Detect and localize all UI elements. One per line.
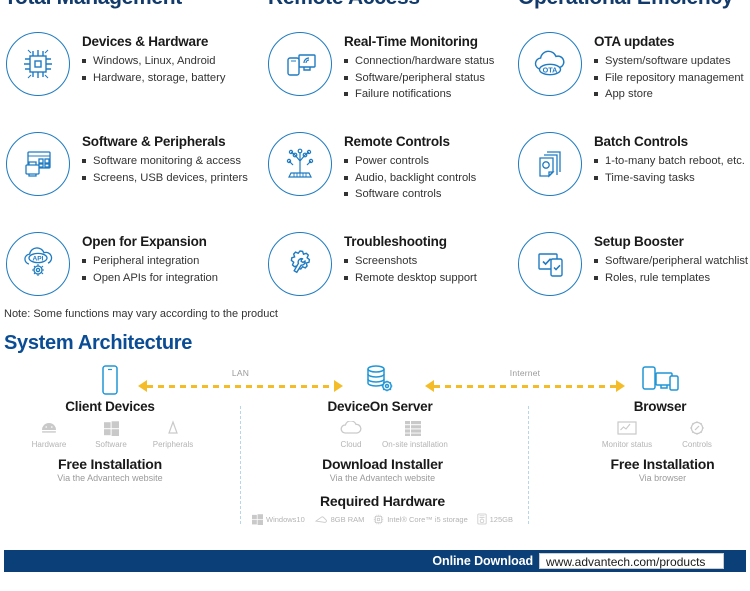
- required-hardware-list: Windows10 8GB RAM: [250, 513, 515, 525]
- feature-bullet: App store: [594, 86, 744, 103]
- feature-row: Devices & Hardware Windows, Linux, Andro…: [0, 30, 750, 130]
- windows-icon: [252, 514, 263, 525]
- cloud-icon: [320, 418, 382, 438]
- feature-bullet: System/software updates: [594, 53, 744, 70]
- ota-cloud-icon: OTA: [518, 32, 582, 96]
- feature-title: Software & Peripherals: [82, 134, 248, 149]
- batch-controls-icon: [518, 132, 582, 196]
- api-cloud-icon: API: [6, 232, 70, 296]
- microchip-icon: [6, 32, 70, 96]
- svg-text:OTA: OTA: [543, 65, 558, 74]
- software-peripherals-icon: [6, 132, 70, 196]
- feature-title: OTA updates: [594, 34, 744, 49]
- peripheral-icon: [142, 418, 204, 438]
- feature-title: Real-Time Monitoring: [344, 34, 494, 49]
- feature-bullet: Screens, USB devices, printers: [82, 170, 248, 187]
- feature-card-remote-controls: Remote Controls Power controls Audio, ba…: [250, 130, 500, 230]
- arch-link-label: Internet: [425, 368, 625, 378]
- feature-title: Setup Booster: [594, 234, 748, 249]
- required-hardware-title: Required Hardware: [250, 493, 515, 509]
- feature-bullet: Power controls: [344, 153, 476, 170]
- arch-subitem: On-site installation: [382, 418, 444, 449]
- arch-subitem-label: Peripherals: [142, 440, 204, 449]
- required-hardware-block: Required Hardware Windows10: [250, 493, 515, 525]
- android-icon: [18, 418, 80, 438]
- arch-node-label: Client Devices: [45, 399, 175, 414]
- feature-bullet: Screenshots: [344, 253, 477, 270]
- arch-block-server: Download Installer Via the Advantech web…: [300, 456, 465, 483]
- feature-bullets: Connection/hardware status Software/peri…: [344, 53, 494, 103]
- arch-subitem: Monitor status: [592, 418, 662, 449]
- setup-booster-icon: [518, 232, 582, 296]
- arch-subitem-label: Hardware: [18, 440, 80, 449]
- feature-bullet: Software/peripheral watchlist: [594, 253, 748, 270]
- feature-bullet: Remote desktop support: [344, 270, 477, 287]
- feature-bullet: Windows, Linux, Android: [82, 53, 225, 70]
- controls-gear-icon: [662, 418, 732, 438]
- arch-subitem: Cloud: [320, 418, 382, 449]
- product-note: Note: Some functions may vary according …: [4, 308, 278, 320]
- arch-subitem-label: On-site installation: [382, 440, 444, 449]
- arch-node-label: DeviceOn Server: [315, 399, 445, 414]
- feature-row: Software & Peripherals Software monitori…: [0, 130, 750, 230]
- divider-left: [240, 406, 241, 524]
- monitor-status-icon: [592, 418, 662, 438]
- system-architecture-diagram: Client Devices DeviceOn Server: [0, 362, 750, 537]
- required-hardware-item: Windows10: [252, 513, 305, 525]
- column-headings: Total Management Remote Access Operation…: [0, 0, 750, 10]
- arch-link-internet: Internet: [425, 368, 625, 392]
- arch-subitem-label: Controls: [662, 440, 732, 449]
- bidirectional-arrow-icon: [138, 380, 343, 392]
- required-hardware-label: 8GB RAM: [331, 515, 365, 524]
- bidirectional-arrow-icon: [425, 380, 625, 392]
- arch-subitem-label: Cloud: [320, 440, 382, 449]
- required-hardware-label: Intel® Core™ i5 storage: [387, 515, 468, 524]
- feature-bullet: Time-saving tasks: [594, 170, 745, 187]
- feature-bullet: Roles, rule templates: [594, 270, 748, 287]
- arch-subitem: Hardware: [18, 418, 80, 449]
- arch-subitem: Software: [80, 418, 142, 449]
- online-download-label: Online Download: [432, 554, 539, 568]
- feature-grid: Devices & Hardware Windows, Linux, Andro…: [0, 30, 750, 330]
- feature-title: Batch Controls: [594, 134, 745, 149]
- feature-bullet: Connection/hardware status: [344, 53, 494, 70]
- svg-text:API: API: [33, 256, 44, 263]
- arch-subitem: Controls: [662, 418, 732, 449]
- required-hardware-item: 8GB RAM: [314, 513, 365, 525]
- required-hardware-label: Windows10: [266, 515, 305, 524]
- feature-bullets: Screenshots Remote desktop support: [344, 253, 477, 286]
- arch-subitem: Peripherals: [142, 418, 204, 449]
- arch-subitem-label: Software: [80, 440, 142, 449]
- server-rack-icon: [382, 418, 444, 438]
- cpu-icon: [373, 514, 384, 525]
- arch-block-subtitle: Via browser: [585, 473, 740, 483]
- arch-subitems-server: Cloud On-site installation: [320, 418, 444, 449]
- feature-bullets: Windows, Linux, Android Hardware, storag…: [82, 53, 225, 86]
- feature-title: Devices & Hardware: [82, 34, 225, 49]
- arch-block-browser: Free Installation Via browser: [585, 456, 740, 483]
- arch-subitem-label: Monitor status: [592, 440, 662, 449]
- feature-bullet: 1-to-many batch reboot, etc.: [594, 153, 745, 170]
- feature-card-setup-booster: Setup Booster Software/peripheral watchl…: [500, 230, 750, 330]
- footer-bar: Online Download www.advantech.com/produc…: [4, 550, 746, 572]
- feature-bullet: Hardware, storage, battery: [82, 70, 225, 87]
- arch-link-label: LAN: [138, 368, 343, 378]
- online-download-url[interactable]: www.advantech.com/products: [539, 553, 724, 569]
- arch-subitems-browser: Monitor status Controls: [592, 418, 732, 449]
- arch-block-client: Free Installation Via the Advantech webs…: [20, 456, 200, 483]
- arch-subitems-client: Hardware Software Peripherals: [18, 418, 204, 449]
- feature-bullet: File repository management: [594, 70, 744, 87]
- feature-bullets: Software monitoring & access Screens, US…: [82, 153, 248, 186]
- required-hardware-item: 125GB: [477, 513, 513, 525]
- brochure-page: Total Management Remote Access Operation…: [0, 0, 750, 591]
- column-heading-total-management: Total Management: [0, 0, 250, 10]
- feature-card-batch-controls: Batch Controls 1-to-many batch reboot, e…: [500, 130, 750, 230]
- column-heading-remote-access: Remote Access: [250, 0, 500, 10]
- arch-block-title: Download Installer: [300, 456, 465, 472]
- arch-link-lan: LAN: [138, 368, 343, 392]
- feature-card-devices-hardware: Devices & Hardware Windows, Linux, Andro…: [0, 30, 250, 130]
- feature-title: Open for Expansion: [82, 234, 218, 249]
- troubleshooting-gear-icon: [268, 232, 332, 296]
- feature-bullet: Software controls: [344, 186, 476, 203]
- feature-bullet: Peripheral integration: [82, 253, 218, 270]
- feature-bullet: Software/peripheral status: [344, 70, 494, 87]
- feature-bullets: System/software updates File repository …: [594, 53, 744, 103]
- arch-block-subtitle: Via the Advantech website: [20, 473, 200, 483]
- feature-bullet: Audio, backlight controls: [344, 170, 476, 187]
- arch-block-title: Free Installation: [20, 456, 200, 472]
- feature-card-ota-updates: OTA OTA updates System/software updates …: [500, 30, 750, 130]
- feature-card-real-time-monitoring: Real-Time Monitoring Connection/hardware…: [250, 30, 500, 130]
- remote-controls-icon: [268, 132, 332, 196]
- arch-node-label: Browser: [600, 399, 720, 414]
- required-hardware-item: Intel® Core™ i5 storage: [373, 513, 468, 525]
- feature-bullets: Peripheral integration Open APIs for int…: [82, 253, 218, 286]
- arch-block-title: Free Installation: [585, 456, 740, 472]
- feature-bullets: Software/peripheral watchlist Roles, rul…: [594, 253, 748, 286]
- section-title-system-architecture: System Architecture: [4, 332, 192, 355]
- feature-bullet: Failure notifications: [344, 86, 494, 103]
- required-hardware-label: 125GB: [490, 515, 513, 524]
- feature-title: Troubleshooting: [344, 234, 477, 249]
- ram-icon: [314, 515, 328, 524]
- feature-bullet: Open APIs for integration: [82, 270, 218, 287]
- feature-bullets: 1-to-many batch reboot, etc. Time-saving…: [594, 153, 745, 186]
- arch-block-subtitle: Via the Advantech website: [300, 473, 465, 483]
- hdd-icon: [477, 513, 487, 525]
- divider-right: [528, 406, 529, 524]
- column-heading-operational-efficiency: Operational Efficiency: [500, 0, 750, 10]
- feature-bullets: Power controls Audio, backlight controls…: [344, 153, 476, 203]
- realtime-monitor-icon: [268, 32, 332, 96]
- feature-card-troubleshooting: Troubleshooting Screenshots Remote deskt…: [250, 230, 500, 330]
- feature-title: Remote Controls: [344, 134, 476, 149]
- feature-bullet: Software monitoring & access: [82, 153, 248, 170]
- feature-card-software-peripherals: Software & Peripherals Software monitori…: [0, 130, 250, 230]
- windows-icon: [80, 418, 142, 438]
